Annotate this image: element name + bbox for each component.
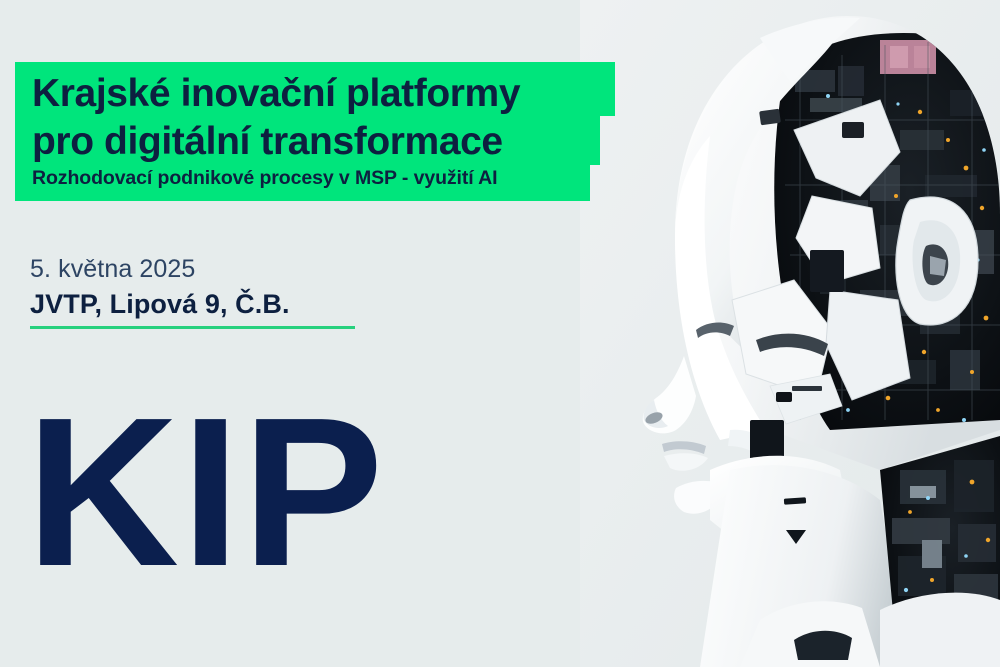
headline-subtitle: Rozhodovací podnikové procesy v MSP - vy… <box>15 165 590 201</box>
venue-underline-rule <box>30 326 355 329</box>
event-details: 5. května 2025 JVTP, Lipová 9, Č.B. <box>30 252 450 329</box>
headline-line-2: pro digitální transformace <box>15 116 600 165</box>
event-venue: JVTP, Lipová 9, Č.B. <box>30 286 450 322</box>
event-date: 5. května 2025 <box>30 252 450 286</box>
robot-head-illustration <box>580 0 1000 667</box>
headline-line-1: Krajské inovační platformy <box>15 62 615 116</box>
robot-head-image <box>580 0 1000 667</box>
headline-group: Krajské inovační platformy pro digitální… <box>15 62 635 201</box>
poster-canvas: Krajské inovační platformy pro digitální… <box>0 0 1000 667</box>
brand-wordmark: KIP <box>26 386 385 598</box>
